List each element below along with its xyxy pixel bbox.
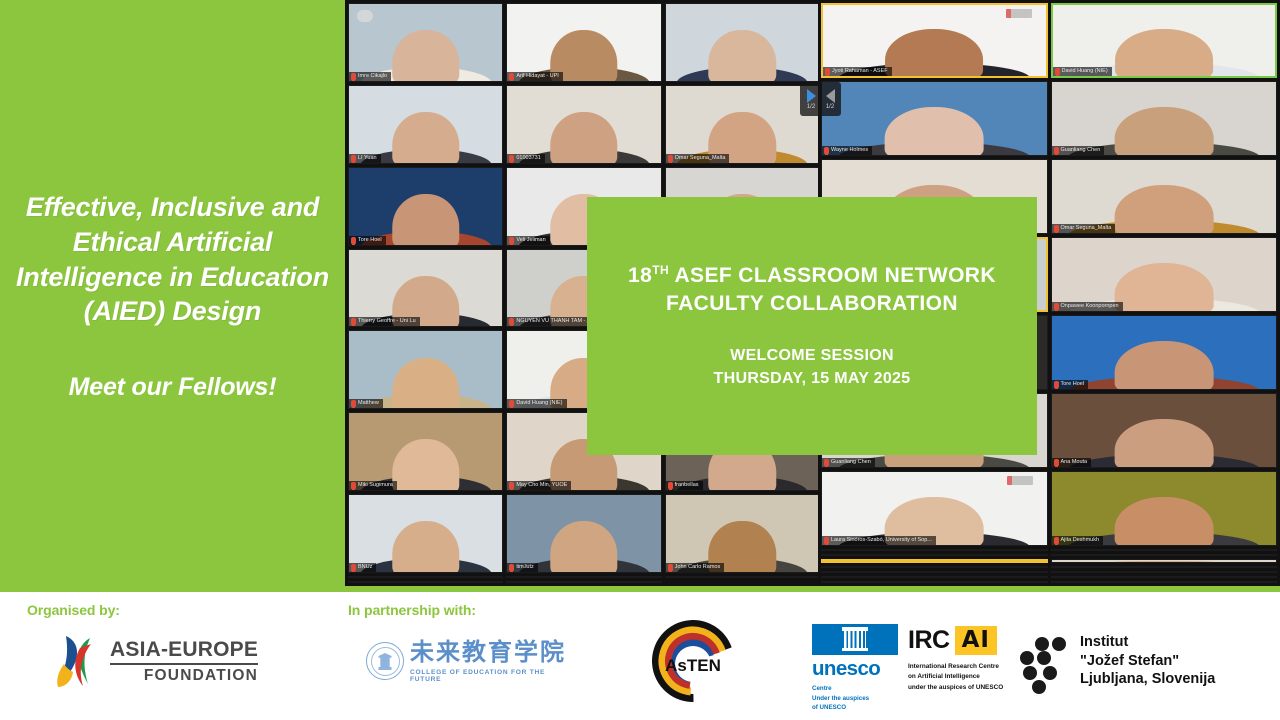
participant-name-text: Ajita Deshmukh: [1061, 537, 1100, 544]
participant-tile[interactable]: Ana Mouta: [1051, 393, 1278, 468]
participant-name-label: Jyoti Rahaman - ASEF: [823, 559, 892, 561]
participant-name-text: Arif Hidayat - UPI: [516, 73, 558, 80]
event-title-line2: FACULTY COLLABORATION: [628, 290, 996, 318]
participant-tile[interactable]: [665, 3, 820, 82]
participant-tile[interactable]: Onpawee Koonpornpen: [348, 576, 503, 578]
participant-tile[interactable]: Michaela Mlada: [1051, 581, 1278, 583]
microphone-icon: [351, 155, 356, 162]
unesco-tagline-line2: Under the auspices: [812, 694, 904, 704]
participant-name-label: Ana Mouta: [507, 581, 547, 582]
participant-name-label: David Huang (NIE): [1053, 67, 1112, 76]
microphone-icon: [509, 73, 514, 80]
participant-name-label: 01003731: [507, 154, 544, 163]
participant-name-label: Michaela Mlada: [1052, 581, 1104, 582]
microphone-icon: [509, 237, 514, 244]
unesco-tagline-line3: of UNESCO: [812, 703, 904, 713]
participant-name-label: Thierry Geoffre - Uni Lu: [349, 317, 420, 326]
session-name: WELCOME SESSION: [714, 344, 911, 367]
participant-name-text: Wayne Holmes: [831, 147, 868, 154]
participant-tile[interactable]: LI Yuan: [1051, 554, 1278, 556]
participant-name-label: BNUz: [349, 563, 376, 572]
partnership-label: In partnership with:: [348, 602, 476, 618]
participant-tile[interactable]: Omar Seguna_Malta: [665, 85, 820, 164]
title-panel: Effective, Inclusive and Ethical Artific…: [0, 0, 345, 592]
microphone-icon: [509, 482, 514, 489]
participant-tile[interactable]: NGUYEN VU THANH TAM - A...: [821, 566, 1048, 568]
microphone-icon: [1054, 225, 1059, 232]
participant-name-label: Tore Hoel: [349, 236, 386, 245]
participant-name-label: David Huang (NIE): [507, 399, 566, 408]
participant-tile[interactable]: NGUYEN VU THANH TAM - A...: [1051, 571, 1278, 573]
event-title-rest: ASEF CLASSROOM NETWORK: [669, 264, 996, 287]
participant-tile[interactable]: Jyoti Rahaman - ASEF: [821, 3, 1048, 78]
participant-name-label: Miki Sugimura: [349, 481, 397, 490]
participant-tile[interactable]: Thierry Geoffre - Uni Lu: [348, 249, 503, 328]
participant-name-label: May Cho Min, YUOE: [822, 554, 886, 555]
participant-name-label: Onpawee Koonpornpen: [1052, 302, 1123, 311]
participant-name-label: Wayne Holmes: [822, 146, 872, 155]
microphone-icon: [825, 68, 830, 75]
participant-tile[interactable]: Ana Mouta: [506, 581, 661, 583]
participant-name-text: Onpawee Koonpornpen: [1061, 303, 1119, 310]
microphone-icon: [509, 155, 514, 162]
participant-name-text: Tore Hoel: [358, 237, 382, 244]
asef-watermark-icon: [1006, 561, 1032, 563]
participant-tile[interactable]: Tore Hoel: [1051, 576, 1278, 578]
microphone-icon: [509, 318, 514, 325]
microphone-icon: [351, 73, 356, 80]
page-subtitle: Meet our Fellows!: [69, 373, 277, 402]
jozef-stefan-logo: Institut "Jožef Stefan" Ljubljana, Slove…: [1019, 626, 1239, 696]
asef-watermark-icon: [1006, 9, 1032, 18]
participant-name-text: May Cho Min, YUOE: [516, 482, 567, 489]
microphone-icon: [351, 564, 356, 571]
participant-name-label: Omar Seguna_Malta: [1052, 224, 1116, 233]
microphone-icon: [668, 564, 673, 571]
participant-name-text: Jyoti Rahaman - ASEF: [832, 68, 888, 75]
microphone-icon: [351, 318, 356, 325]
asef-swoosh-icon: [50, 632, 106, 688]
ijs-name-line3: Ljubljana, Slovenija: [1080, 670, 1215, 689]
page-indicator: 1/2: [807, 104, 815, 110]
participant-tile[interactable]: David Huang (NIE): [1051, 3, 1278, 78]
participant-name-label: Laura Sinóros-Szabó, University of Sop..…: [822, 536, 936, 545]
page-title: Effective, Inclusive and Ethical Artific…: [12, 190, 333, 328]
participant-tile[interactable]: Imre Cikajlo: [348, 3, 503, 82]
participant-name-label: Tore Hoel: [507, 576, 544, 577]
ijs-wordmark: Institut "Jožef Stefan" Ljubljana, Slove…: [1080, 633, 1215, 689]
ijs-dots-icon: [1019, 635, 1071, 687]
microphone-icon: [668, 482, 673, 489]
participant-name-label: Arif Hidayat - UPI: [507, 72, 562, 81]
ircai-ai-badge: AI: [955, 626, 997, 655]
organised-by-label: Organised by:: [27, 602, 120, 618]
microphone-icon: [824, 459, 829, 466]
participant-tile[interactable]: Matthew: [348, 330, 503, 409]
ijs-name-line1: Institut: [1080, 633, 1215, 652]
participant-tile[interactable]: Michaela Mlada: [821, 576, 1048, 578]
participant-name-label: May Cho Min, YUOE: [507, 481, 571, 490]
participant-name-label: tim.lutz: [507, 563, 537, 572]
participant-tile[interactable]: tim.lutz: [506, 494, 661, 573]
ircai-irc-text: IRC: [908, 626, 950, 655]
microphone-icon: [1054, 459, 1059, 466]
asten-wordmark: AsTEN: [665, 656, 721, 675]
microphone-icon: [824, 147, 829, 154]
participant-name-label: LI Yuan: [1052, 554, 1084, 555]
chat-bubble-icon: [833, 550, 849, 551]
microphone-icon: [1055, 68, 1060, 75]
unesco-tagline-line1: Centre: [812, 684, 904, 694]
participant-name-text: Guanliang Chen: [831, 459, 871, 466]
participant-tile[interactable]: Tore Hoel: [348, 167, 503, 246]
participant-tile[interactable]: Guanliang Chen: [1051, 81, 1278, 156]
participant-name-label: NGUYEN VU THANH TAM - A...: [822, 566, 914, 567]
chevron-left-icon: [826, 89, 835, 103]
participant-tile[interactable]: Wayne Holmes: [821, 81, 1048, 156]
participant-tile[interactable]: Omar Seguna_Malta: [1051, 159, 1278, 234]
participant-tile[interactable]: BNUz: [348, 494, 503, 573]
unesco-wordmark: unesco: [812, 657, 904, 681]
ijs-name-line2: "Jožef Stefan": [1080, 652, 1215, 671]
event-title: 18TH ASEF CLASSROOM NETWORK FACULTY COLL…: [628, 262, 996, 318]
unesco-emblem-icon: [812, 624, 898, 655]
prev-page-button[interactable]: 1/2: [819, 82, 841, 116]
footer-bar: Organised by: In partnership with: ASIA-…: [0, 592, 1280, 720]
event-title-number: 18: [628, 264, 652, 287]
microphone-icon: [509, 564, 514, 571]
participant-name-text: 01003731: [516, 155, 540, 162]
participant-name-label: tim.lutz: [822, 571, 852, 572]
participant-name-text: Omar Seguna_Malta: [1061, 225, 1112, 232]
asef-wordmark: ASIA-EUROPE FOUNDATION: [110, 638, 258, 685]
bnu-logo: 未来教育学院 COLLEGE OF EDUCATION FOR THE FUTU…: [366, 636, 576, 686]
participant-tile[interactable]: [1051, 559, 1278, 563]
participant-name-text: Imre Cikajlo: [358, 73, 387, 80]
participant-name-text: Guanliang Chen: [1061, 147, 1101, 154]
microphone-icon: [1054, 381, 1059, 388]
participant-tile[interactable]: Onpawee Koonpornpen: [1051, 237, 1278, 312]
participant-tile[interactable]: Arif Hidayat - UPI: [506, 3, 661, 82]
bnu-name-chinese: 未来教育学院: [410, 640, 576, 664]
participant-tile[interactable]: Longkai Wu: [1051, 549, 1278, 551]
participant-name-text: David Huang (NIE): [1062, 68, 1108, 75]
participant-name-text: Veli Jeliman: [516, 237, 545, 244]
participant-name-label: Omar Seguna_Malta: [349, 581, 413, 582]
microphone-icon: [351, 482, 356, 489]
participant-tile[interactable]: Ajita Deshmukh: [1051, 471, 1278, 546]
participant-name-text: Thierry Geoffre - Uni Lu: [358, 318, 416, 325]
asten-logo: AsTEN: [634, 620, 752, 702]
participant-name-label: Thierry Geoffre - Uni Lu: [666, 576, 737, 577]
zoom-gallery-area: Imre CikajloArif Hidayat - UPILI Yuan010…: [345, 0, 1280, 586]
participant-name-label: Ana Mouta: [1052, 458, 1092, 467]
event-session-info: WELCOME SESSION THURSDAY, 15 MAY 2025: [714, 344, 911, 390]
participant-name-label: Imre Cikajlo: [349, 72, 391, 81]
participant-tile[interactable]: Omar Seguna_Malta: [348, 581, 503, 583]
participant-tile[interactable]: Thierry Geoffre - Uni Lu: [821, 581, 1048, 583]
participant-tile[interactable]: Imre Cikajlo: [821, 549, 1048, 551]
slide-root: Effective, Inclusive and Ethical Artific…: [0, 0, 1280, 720]
bnu-seal-icon: [366, 642, 404, 680]
participant-tile[interactable]: LI Yuan: [348, 85, 503, 164]
chevron-right-icon: [807, 89, 816, 103]
participant-name-label: Thierry Geoffre - Uni Lu: [822, 581, 893, 582]
participant-name-label: Guanliang Chen: [1052, 146, 1105, 155]
participant-name-label: Guanliang Chen: [822, 458, 875, 467]
participant-name-label: Ajita Deshmukh: [1052, 536, 1104, 545]
participant-tile[interactable]: 01003731: [506, 85, 661, 164]
participant-name-label: LI Yuan: [349, 154, 381, 163]
participant-name-text: franbellas: [675, 482, 699, 489]
participant-name-label: Onpawee Koonpornpen: [349, 576, 420, 577]
bnu-wordmark: 未来教育学院 COLLEGE OF EDUCATION FOR THE FUTU…: [410, 640, 576, 683]
page-indicator: 1/2: [826, 104, 834, 110]
participant-tile[interactable]: Jyoti Rahaman - ASEF: [821, 559, 1048, 563]
microphone-icon: [351, 400, 356, 407]
participant-name-label: Matthew: [349, 399, 383, 408]
unesco-temple-icon: [844, 631, 866, 648]
participant-name-text: Ana Mouta: [1061, 459, 1088, 466]
chat-bubble-icon: [357, 10, 373, 22]
microphone-icon: [1054, 303, 1059, 310]
participant-tile[interactable]: Tore Hoel: [1051, 315, 1278, 390]
participant-tile[interactable]: Miki Sugimura: [348, 412, 503, 491]
participant-name-label: Veli Jeliman: [507, 236, 549, 245]
participant-name-text: Matthew: [358, 400, 379, 407]
participant-body: [1067, 562, 1260, 563]
participant-name-label: Jyoti Rahaman - ASEF: [823, 67, 892, 76]
participant-name-label: Imre Cikajlo: [822, 549, 864, 550]
participant-name-label: Tore Hoel: [1052, 380, 1089, 389]
participant-name-text: Miki Sugimura: [358, 482, 393, 489]
participant-tile[interactable]: Thierry Geoffre - Uni Lu: [665, 576, 820, 578]
asef-name-line2: FOUNDATION: [110, 667, 258, 685]
microphone-icon: [668, 155, 673, 162]
participant-tile[interactable]: Laura Sinóros-Szabó, University of Sop..…: [821, 471, 1048, 546]
asef-logo: ASIA-EUROPE FOUNDATION: [50, 632, 285, 688]
bnu-name-english: COLLEGE OF EDUCATION FOR THE FUTURE: [410, 669, 576, 683]
session-date: THURSDAY, 15 MAY 2025: [714, 367, 911, 390]
microphone-icon: [509, 400, 514, 407]
participant-name-label: Longkai Wu: [1052, 549, 1094, 550]
participant-tile[interactable]: John Carlo Ramos: [665, 494, 820, 573]
participant-name-label: Tore Hoel: [1052, 576, 1089, 577]
participant-tile[interactable]: May Cho Min, YUOE: [821, 554, 1048, 556]
participant-name-label: Michaela Mlada: [822, 576, 874, 577]
participant-name-label: Omar Seguna_Malta: [666, 154, 730, 163]
participant-name-text: BNUz: [358, 564, 372, 571]
microphone-icon: [824, 537, 829, 544]
participant-name-text: Tore Hoel: [1061, 381, 1085, 388]
microphone-icon: [351, 237, 356, 244]
unesco-logo: unesco Centre Under the auspices of UNES…: [812, 624, 904, 700]
event-title-ordinal: TH: [652, 263, 669, 277]
participant-face: [1115, 29, 1213, 78]
participant-name-label: BNUz: [1052, 566, 1079, 567]
unesco-tagline: Centre Under the auspices of UNESCO: [812, 684, 904, 713]
participant-name-label: NGUYEN VU THANH TAM - A...: [1052, 571, 1144, 572]
microphone-icon: [1054, 147, 1059, 154]
participant-tile[interactable]: Tore Hoel: [506, 576, 661, 578]
microphone-icon: [825, 559, 830, 560]
participant-name-text: Omar Seguna_Malta: [675, 155, 726, 162]
participant-name-text: Laura Sinóros-Szabó, University of Sop..…: [831, 537, 932, 544]
shared-screen-overlay: 18TH ASEF CLASSROOM NETWORK FACULTY COLL…: [587, 197, 1037, 455]
participant-tile[interactable]: tim.lutz: [821, 571, 1048, 573]
participant-name-text: LI Yuan: [358, 155, 377, 162]
participant-name-label: franbellas: [666, 481, 703, 490]
participant-name-text: Jyoti Rahaman - ASEF: [832, 559, 888, 560]
asef-watermark-icon: [1007, 476, 1033, 485]
participant-tile[interactable]: BNUz: [1051, 566, 1278, 568]
participant-name-text: David Huang (NIE): [516, 400, 562, 407]
participant-name-text: John Carlo Ramos: [675, 564, 721, 571]
microphone-icon: [1054, 537, 1059, 544]
asef-name-line1: ASIA-EUROPE: [110, 638, 258, 665]
participant-name-label: John Carlo Ramos: [666, 563, 725, 572]
participant-face: [885, 29, 983, 78]
participant-name-text: tim.lutz: [516, 564, 533, 571]
